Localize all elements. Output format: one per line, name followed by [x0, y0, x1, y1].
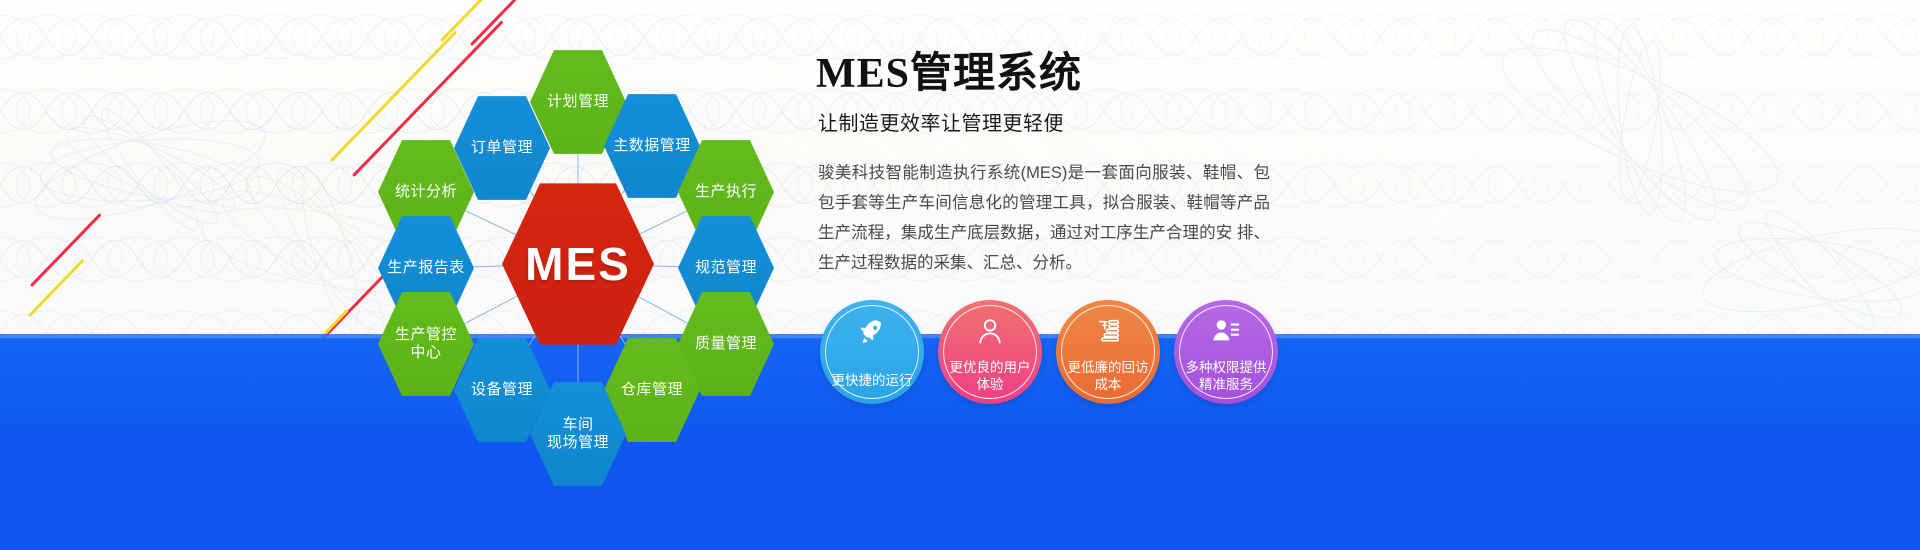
page-subtitle: 让制造更效率让管理更轻便 [818, 107, 1336, 136]
coins-icon [1056, 314, 1160, 348]
hexagon-node-label: 生产执行 [695, 183, 757, 201]
page-description: 骏美科技智能制造执行系统(MES)是一套面向服装、鞋帽、包包手套等生产车间信息化… [818, 158, 1270, 278]
badge-label: 更快捷的运行 [824, 373, 921, 404]
feature-badge-list: 更快捷的运行更优良的用户 体验更低廉的回访 成本多种权限提供 精准服务 [820, 300, 1278, 404]
badge-label: 更优良的用户 体验 [942, 360, 1039, 404]
content-column: MES管理系统 让制造更效率让管理更轻便 骏美科技智能制造执行系统(MES)是一… [816, 52, 1336, 278]
feature-badge-4[interactable]: 多种权限提供 精准服务 [1174, 300, 1278, 404]
feature-badge-3[interactable]: 更低廉的回访 成本 [1056, 300, 1160, 404]
hexagon-node-label: 设备管理 [471, 381, 533, 399]
badge-label: 多种权限提供 精准服务 [1178, 360, 1275, 404]
rocket-icon [820, 314, 924, 348]
hexagon-node-label: 质量管理 [695, 335, 757, 353]
user-icon [938, 314, 1042, 348]
page-title: MES管理系统 [816, 52, 1336, 97]
hexagon-node-label: 生产报告表 [387, 259, 465, 277]
hexagon-core-label: MES [525, 237, 631, 291]
badge-label: 更低廉的回访 成本 [1060, 360, 1157, 404]
banner-stage: MES 计划管理订单管理主数据管理统计分析生产执行生产报告表规范管理生产管控 中… [0, 0, 1920, 550]
feature-badge-2[interactable]: 更优良的用户 体验 [938, 300, 1042, 404]
user-list-icon [1174, 314, 1278, 348]
hexagon-node-label: 订单管理 [471, 139, 533, 157]
hexagon-node-label: 主数据管理 [613, 137, 691, 155]
feature-badge-1[interactable]: 更快捷的运行 [820, 300, 924, 404]
hexagon-node-label: 规范管理 [695, 259, 757, 277]
hexagon-node-label: 车间 现场管理 [547, 416, 609, 451]
hexagon-node-label: 计划管理 [547, 93, 609, 111]
hexagon-node-label: 仓库管理 [621, 381, 683, 399]
hexagon-node-label: 统计分析 [395, 183, 457, 201]
hexagon-node-label: 生产管控 中心 [395, 326, 457, 361]
